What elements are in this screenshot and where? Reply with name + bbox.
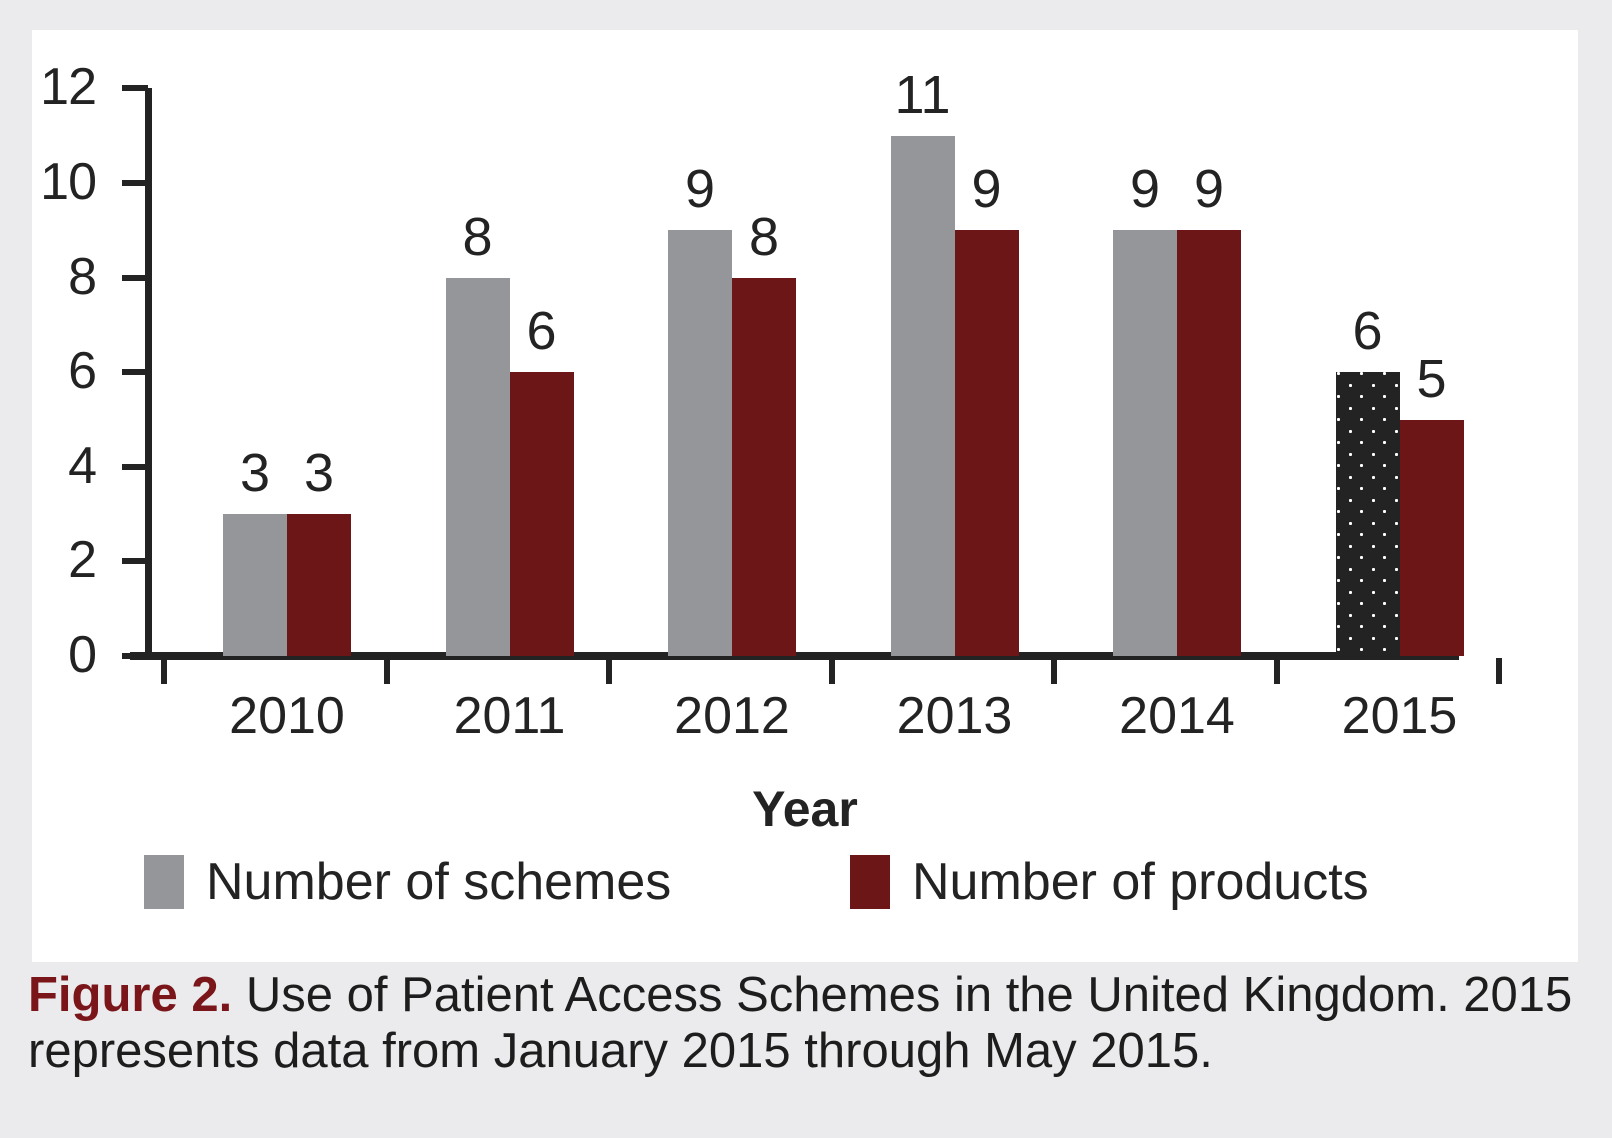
bar-2014-schemes	[1113, 230, 1177, 656]
bar-value-2014-products: 9	[1149, 162, 1269, 216]
bar-value-2015-schemes: 6	[1308, 304, 1428, 358]
bar-2012-products	[732, 278, 796, 656]
x-axis-label-2015: 2015	[1300, 690, 1500, 742]
bar-2015-products	[1400, 420, 1464, 657]
x-axis-label-2013: 2013	[855, 690, 1055, 742]
bar-value-2015-products: 5	[1372, 352, 1492, 406]
bar-value-2013-products: 9	[927, 162, 1047, 216]
x-axis-label-2011: 2011	[410, 690, 610, 742]
chart-legend: Number of schemesNumber of products	[32, 855, 1578, 935]
x-axis-label-2010: 2010	[187, 690, 387, 742]
caption-text: Use of Patient Access Schemes in the Uni…	[28, 968, 1572, 1078]
bar-2013-products	[955, 230, 1019, 656]
legend-swatch-icon	[850, 855, 890, 909]
chart-panel: 024681012 3386981199965 2010201120122013…	[32, 30, 1578, 962]
x-axis-tick	[1051, 658, 1057, 684]
bar-value-2011-schemes: 8	[418, 210, 538, 264]
legend-swatch-icon	[144, 855, 184, 909]
figure-label: Figure 2.	[28, 968, 232, 1022]
plot-area: 024681012 3386981199965 2010201120122013…	[32, 30, 1578, 710]
legend-label: Number of schemes	[206, 856, 671, 908]
x-axis-tick	[161, 658, 167, 684]
x-axis-tick	[1274, 658, 1280, 684]
bar-value-2013-schemes: 11	[863, 68, 983, 122]
figure-caption: Figure 2. Use of Patient Access Schemes …	[28, 968, 1588, 1080]
x-axis-label-2014: 2014	[1077, 690, 1277, 742]
bar-2015-schemes	[1336, 372, 1400, 656]
x-axis-tick	[384, 658, 390, 684]
x-axis-title: Year	[32, 780, 1578, 838]
bar-value-2011-products: 6	[482, 304, 602, 358]
legend-item-schemes: Number of schemes	[144, 855, 671, 909]
bars-layer: 3386981199965	[32, 30, 1578, 656]
x-axis-label-2012: 2012	[632, 690, 832, 742]
bar-2012-schemes	[668, 230, 732, 656]
legend-item-products: Number of products	[850, 855, 1369, 909]
bar-value-2012-products: 8	[704, 210, 824, 264]
bar-2010-products	[287, 514, 351, 656]
x-axis-tick	[1496, 658, 1502, 684]
bar-value-2010-products: 3	[259, 446, 379, 500]
bar-2010-schemes	[223, 514, 287, 656]
figure-root: 024681012 3386981199965 2010201120122013…	[0, 0, 1612, 1138]
x-axis-tick	[606, 658, 612, 684]
bar-2014-products	[1177, 230, 1241, 656]
bar-2011-products	[510, 372, 574, 656]
bar-value-2012-schemes: 9	[640, 162, 760, 216]
legend-label: Number of products	[912, 856, 1369, 908]
x-axis-tick	[829, 658, 835, 684]
